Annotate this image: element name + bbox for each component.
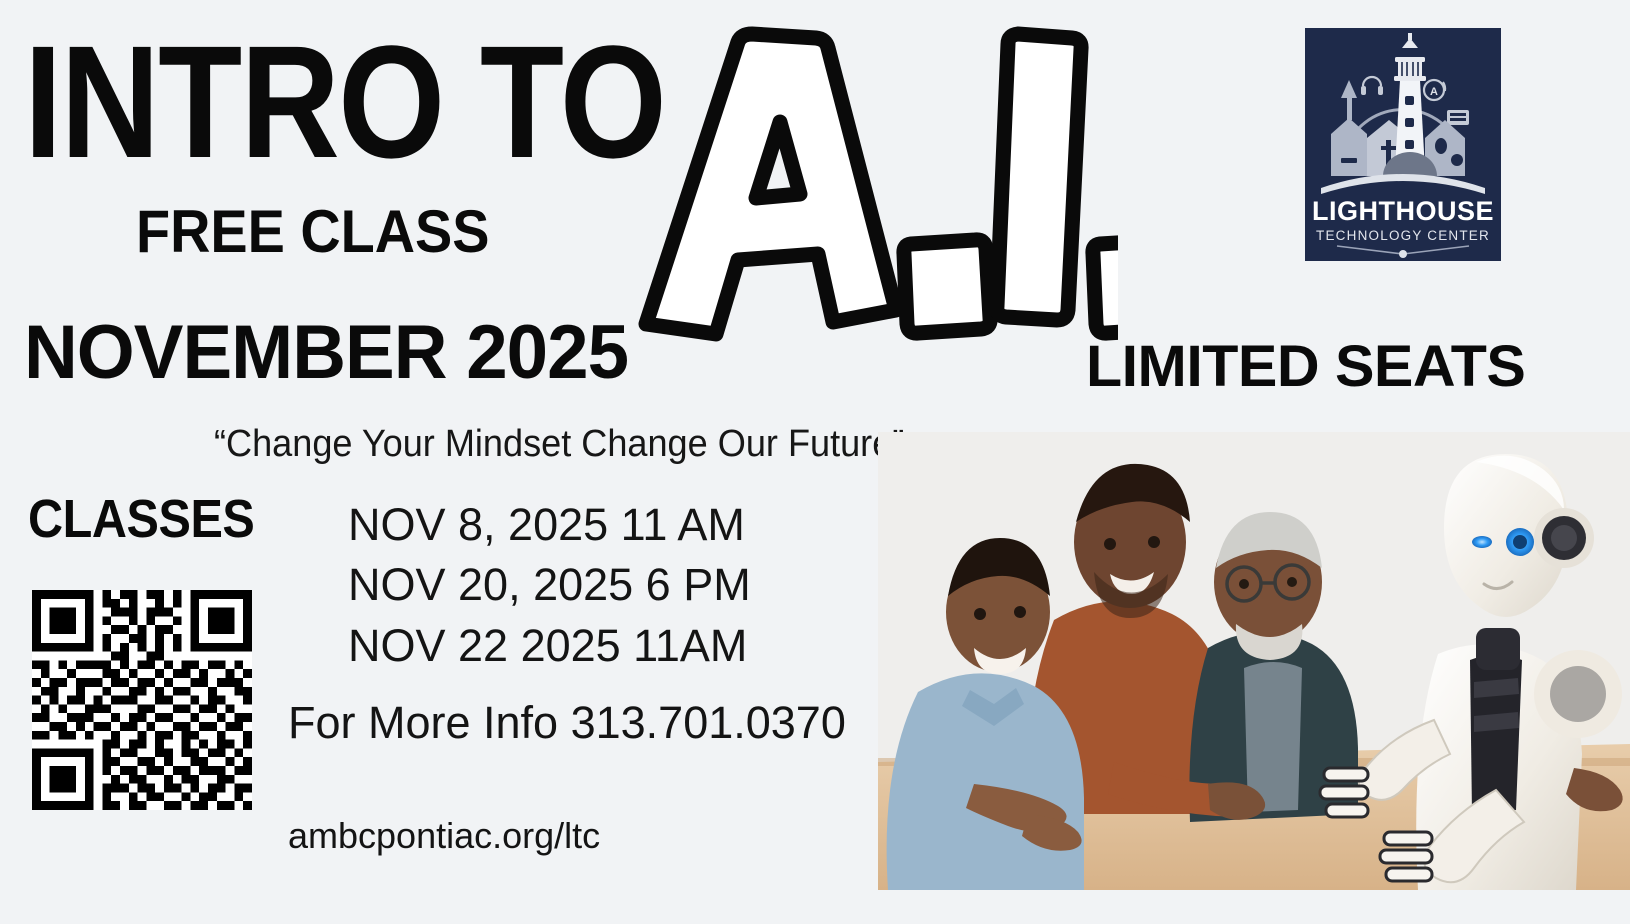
limited-seats-badge: LIMITED SEATS: [1086, 338, 1525, 396]
classes-label: CLASSES: [28, 492, 254, 546]
subtitle-free-class: FREE CLASS: [136, 202, 489, 262]
qr-code[interactable]: [32, 590, 252, 810]
robot-eye-left: [1472, 536, 1492, 548]
list-item: NOV 8, 2025 11 AM: [348, 495, 868, 555]
page-title: INTRO TO: [24, 28, 665, 175]
session-list: NOV 8, 2025 11 AM NOV 20, 2025 6 PM NOV …: [348, 495, 868, 676]
lighthouse-logo: A: [1305, 28, 1501, 261]
website-url[interactable]: ambcpontiac.org/ltc: [288, 818, 600, 854]
list-item: NOV 20, 2025 6 PM: [348, 555, 868, 615]
list-item: NOV 22 2025 11AM: [348, 616, 868, 676]
logo-name: LIGHTHOUSE: [1312, 196, 1494, 226]
ai-class-photo: [878, 432, 1630, 890]
flyer-canvas: INTRO TO FREE CLASS NOVEMBER 2025 LIMITE…: [0, 0, 1630, 924]
ai-wordmark: [628, 22, 1118, 342]
contact-phone: For More Info 313.701.0370: [288, 700, 846, 745]
tagline: “Change Your Mindset Change Our Future”: [214, 424, 904, 466]
logo-monogram: A: [1430, 86, 1438, 98]
logo-subtitle: TECHNOLOGY CENTER: [1316, 228, 1490, 243]
month-year: NOVEMBER 2025: [24, 315, 628, 391]
